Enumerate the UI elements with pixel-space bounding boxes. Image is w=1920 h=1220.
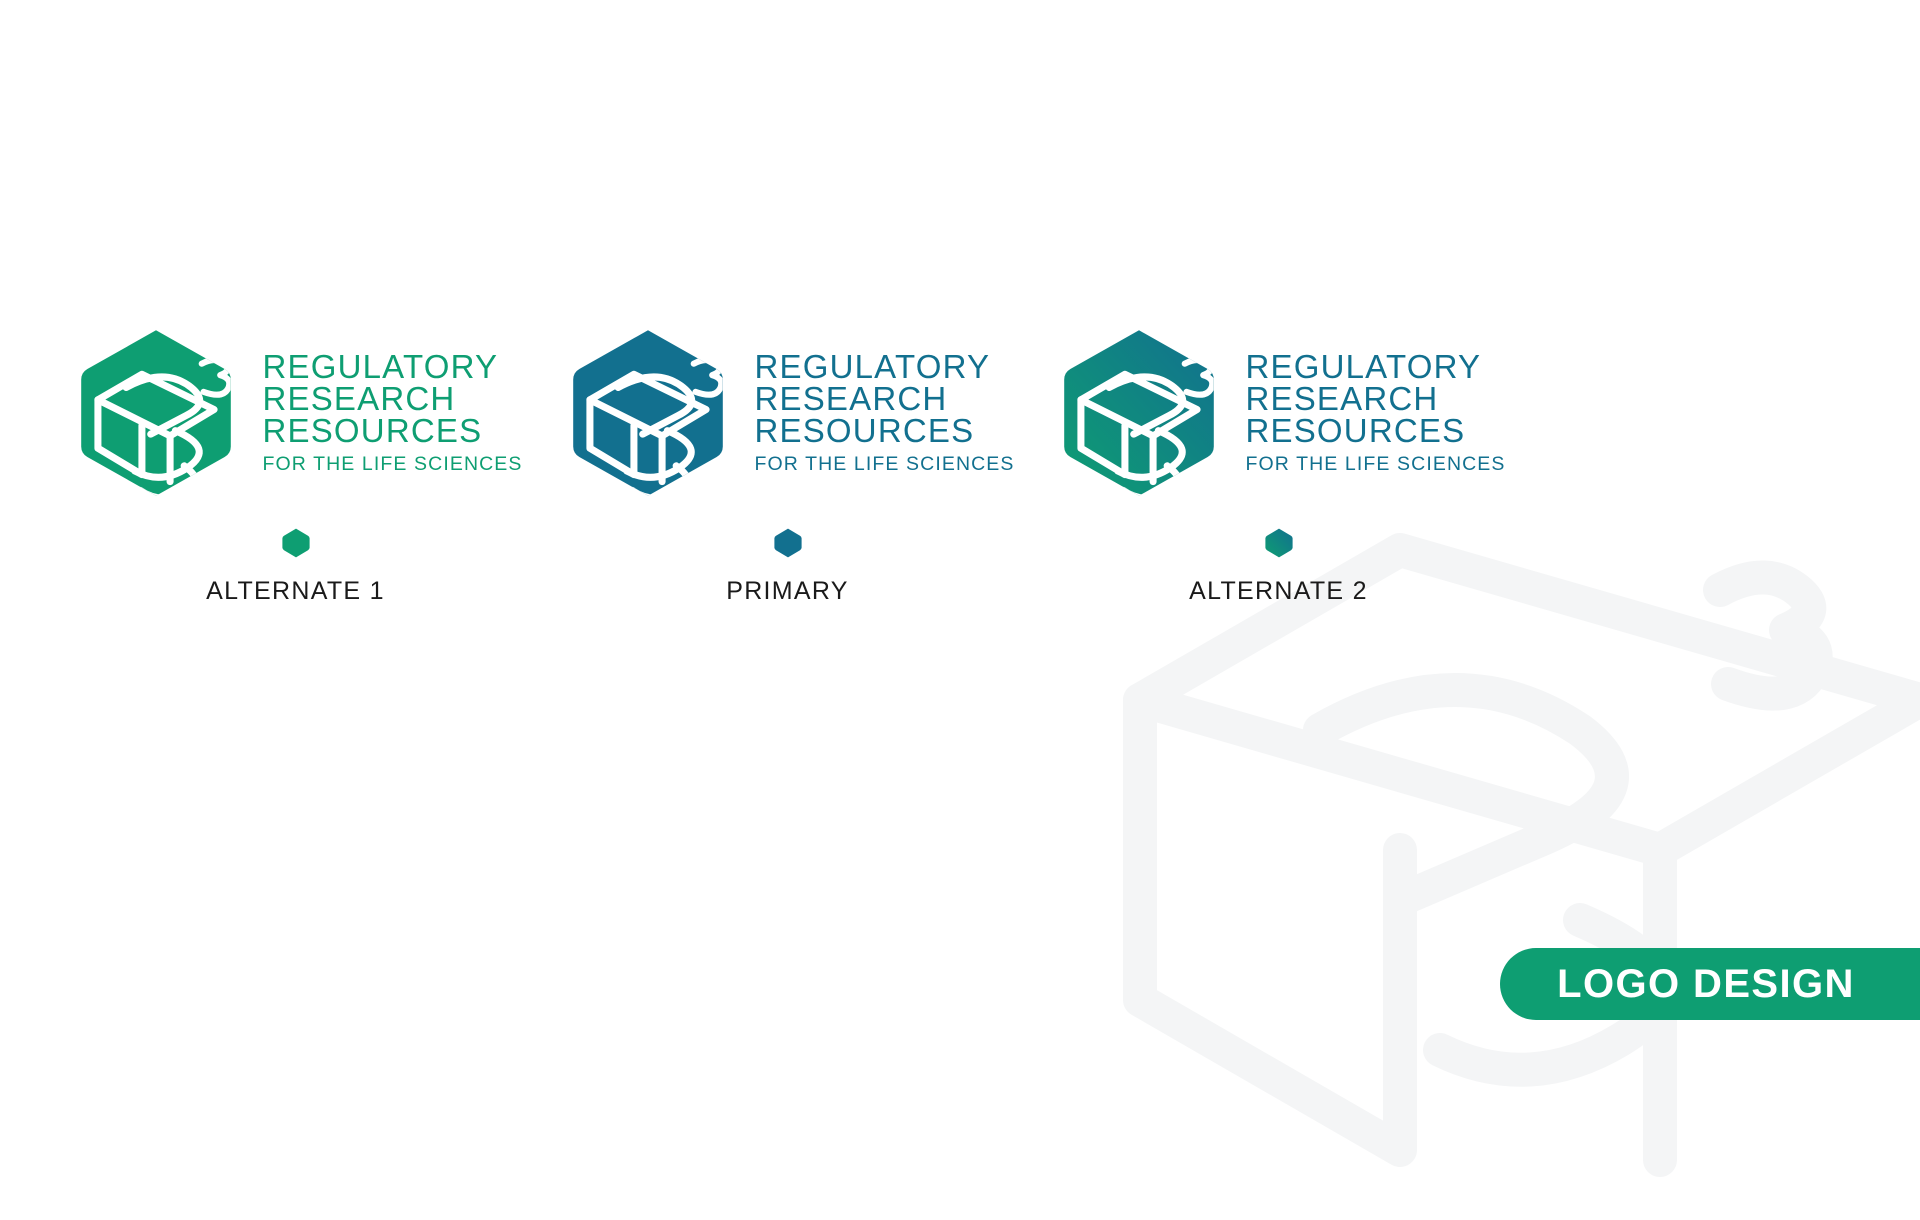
logo-variant-alternate-2[interactable]: REGULATORY RESEARCH RESOURCES FOR THE LI… xyxy=(1106,325,1451,606)
bullet-wrap xyxy=(123,527,468,559)
wordmark: REGULATORY RESEARCH RESOURCES FOR THE LI… xyxy=(1245,349,1505,477)
r3-hexagon-mark-icon xyxy=(560,325,736,501)
hexagon-bullet-icon xyxy=(1263,527,1295,559)
logo-variants-row: REGULATORY RESEARCH RESOURCES FOR THE LI… xyxy=(0,0,1920,1080)
wordmark-line-1: REGULATORY xyxy=(262,351,522,383)
variant-caption: ALTERNATE 1 xyxy=(123,577,468,606)
wordmark-tagline: FOR THE LIFE SCIENCES xyxy=(262,451,522,477)
wordmark-tagline: FOR THE LIFE SCIENCES xyxy=(1245,451,1505,477)
wordmark-tagline: FOR THE LIFE SCIENCES xyxy=(754,451,1014,477)
hexagon-bullet-icon xyxy=(280,527,312,559)
bullet-wrap xyxy=(1106,527,1451,559)
bullet-wrap xyxy=(615,527,960,559)
r3-hexagon-mark-icon xyxy=(1051,325,1227,501)
wordmark-line-1: REGULATORY xyxy=(1245,351,1505,383)
wordmark-line-2: RESEARCH xyxy=(1245,383,1505,415)
r3-hexagon-mark-icon xyxy=(68,325,244,501)
wordmark: REGULATORY RESEARCH RESOURCES FOR THE LI… xyxy=(754,349,1014,477)
logo-variant-alternate-1[interactable]: REGULATORY RESEARCH RESOURCES FOR THE LI… xyxy=(123,325,468,606)
wordmark-line-2: RESEARCH xyxy=(754,383,1014,415)
slide-canvas: REGULATORY RESEARCH RESOURCES FOR THE LI… xyxy=(0,0,1920,1080)
logo-lockup: REGULATORY RESEARCH RESOURCES FOR THE LI… xyxy=(1106,325,1451,501)
wordmark-line-3: RESOURCES xyxy=(262,415,522,447)
logo-variant-primary[interactable]: REGULATORY RESEARCH RESOURCES FOR THE LI… xyxy=(615,325,960,606)
logo-lockup: REGULATORY RESEARCH RESOURCES FOR THE LI… xyxy=(615,325,960,501)
wordmark-line-1: REGULATORY xyxy=(754,351,1014,383)
wordmark-line-2: RESEARCH xyxy=(262,383,522,415)
wordmark-line-3: RESOURCES xyxy=(1245,415,1505,447)
wordmark: REGULATORY RESEARCH RESOURCES FOR THE LI… xyxy=(262,349,522,477)
hexagon-bullet-icon xyxy=(772,527,804,559)
variant-caption: ALTERNATE 2 xyxy=(1106,577,1451,606)
variant-caption: PRIMARY xyxy=(615,577,960,606)
logo-lockup: REGULATORY RESEARCH RESOURCES FOR THE LI… xyxy=(123,325,468,501)
wordmark-line-3: RESOURCES xyxy=(754,415,1014,447)
logo-design-badge: LOGO DESIGN xyxy=(1500,948,1920,1020)
logo-design-badge-label: LOGO DESIGN xyxy=(1557,962,1855,1007)
